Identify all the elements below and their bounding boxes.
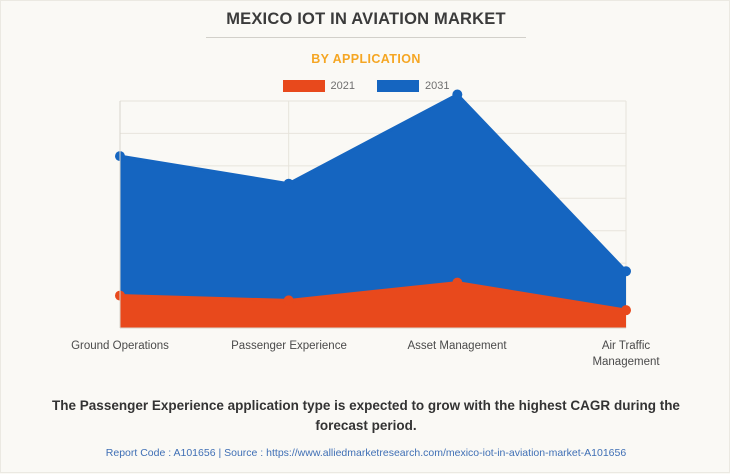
report-code-label[interactable]: Report Code : A101656 bbox=[106, 447, 216, 459]
data-point-marker[interactable] bbox=[284, 179, 294, 189]
area-series-2031 bbox=[120, 95, 626, 311]
x-axis-label-3: Air Traffic Management bbox=[569, 338, 683, 370]
footer-separator: | bbox=[218, 447, 221, 459]
chart-series-areas bbox=[120, 95, 626, 328]
data-point-marker[interactable] bbox=[621, 266, 631, 276]
x-axis-label-0: Ground Operations bbox=[49, 338, 191, 354]
data-point-marker[interactable] bbox=[452, 90, 462, 100]
data-point-marker[interactable] bbox=[284, 295, 294, 305]
chart-card: MEXICO IOT IN AVIATION MARKET BY APPLICA… bbox=[1, 1, 729, 472]
x-axis-label-2: Asset Management bbox=[386, 338, 528, 354]
source-link[interactable]: Source : https://www.alliedmarketresearc… bbox=[224, 447, 626, 459]
chart-caption: The Passenger Experience application typ… bbox=[26, 396, 706, 436]
chart-footer: Report Code : A101656 | Source : https:/… bbox=[1, 445, 730, 461]
data-point-marker[interactable] bbox=[452, 278, 462, 288]
x-axis-label-1: Passenger Experience bbox=[218, 338, 360, 354]
x-axis-labels: Ground Operations Passenger Experience A… bbox=[1, 334, 730, 382]
data-point-marker[interactable] bbox=[621, 305, 631, 315]
caption-line-1: The Passenger Experience application typ… bbox=[52, 398, 610, 413]
